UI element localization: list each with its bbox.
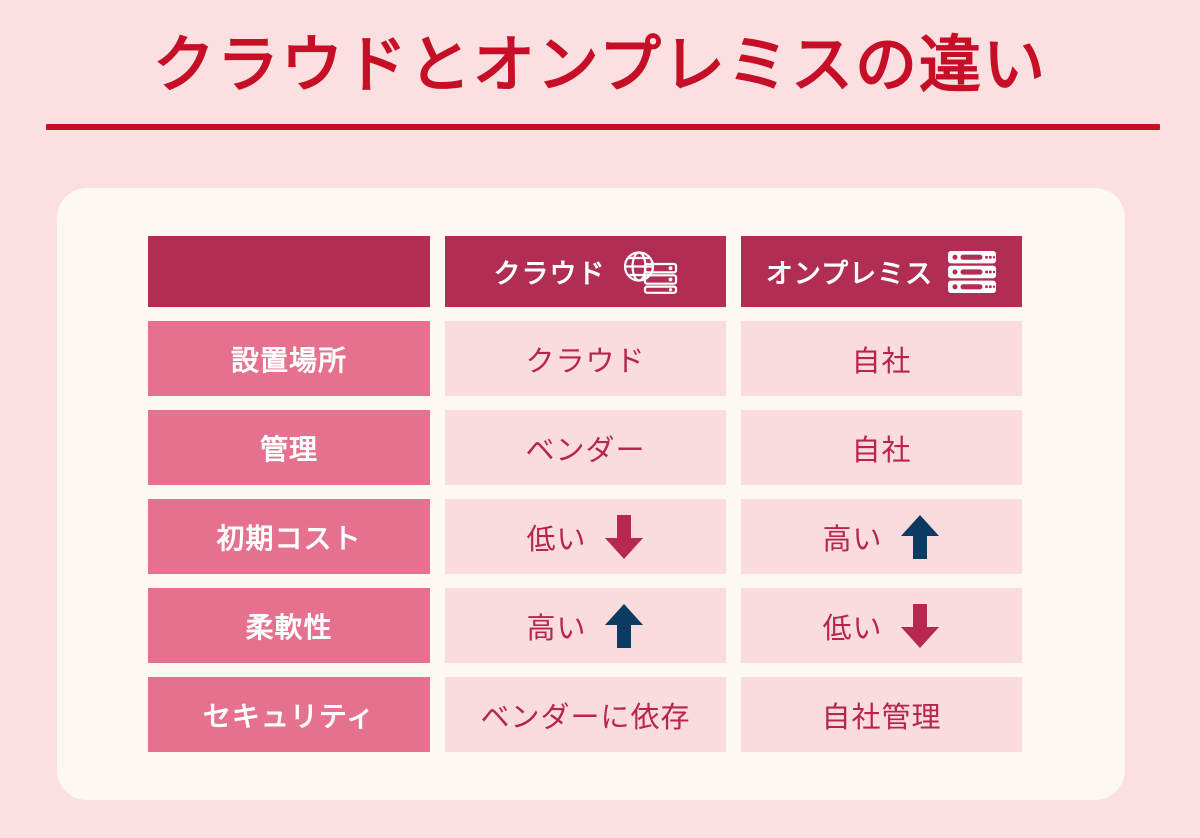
cell-cloud-security: ベンダーに依存 bbox=[445, 677, 726, 752]
table-row: セキュリティ ベンダーに依存 自社管理 bbox=[148, 677, 1022, 752]
cell-onpremise-security: 自社管理 bbox=[741, 677, 1022, 752]
cell-text: ベンダー bbox=[525, 427, 645, 469]
table-header-row: クラウド bbox=[148, 236, 1022, 307]
comparison-table: クラウド bbox=[148, 236, 1022, 752]
cell-text: ベンダーに依存 bbox=[480, 694, 690, 736]
cell-cloud-installation-location: クラウド bbox=[445, 321, 726, 396]
table-row: 設置場所 クラウド 自社 bbox=[148, 321, 1022, 396]
cell-text: 自社管理 bbox=[821, 694, 941, 736]
cell-text: クラウド bbox=[525, 338, 645, 380]
arrow-down-icon bbox=[603, 513, 645, 561]
column-header-cloud: クラウド bbox=[445, 236, 726, 307]
cell-text: 低い bbox=[822, 605, 882, 647]
arrow-up-icon bbox=[603, 602, 645, 650]
content-card: クラウド bbox=[57, 188, 1125, 800]
cell-text: 高い bbox=[526, 605, 586, 647]
cloud-server-icon bbox=[620, 250, 678, 294]
cell-cloud-initial-cost: 低い bbox=[445, 499, 726, 574]
row-label-installation-location: 設置場所 bbox=[148, 321, 430, 396]
row-label-initial-cost: 初期コスト bbox=[148, 499, 430, 574]
table-row: 管理 ベンダー 自社 bbox=[148, 410, 1022, 485]
cell-text: 自社 bbox=[851, 338, 911, 380]
cell-text: 低い bbox=[526, 516, 586, 558]
title-underline bbox=[46, 124, 1160, 130]
table-corner-cell bbox=[148, 236, 430, 307]
row-label-flexibility: 柔軟性 bbox=[148, 588, 430, 663]
row-label-management: 管理 bbox=[148, 410, 430, 485]
table-row: 初期コスト 低い 高い bbox=[148, 499, 1022, 574]
cell-cloud-flexibility: 高い bbox=[445, 588, 726, 663]
cell-text: 自社 bbox=[851, 427, 911, 469]
table-row: 柔軟性 高い 低い bbox=[148, 588, 1022, 663]
cell-onpremise-management: 自社 bbox=[741, 410, 1022, 485]
server-rack-icon bbox=[947, 250, 997, 294]
cell-cloud-management: ベンダー bbox=[445, 410, 726, 485]
title-block: クラウドとオンプレミスの違い bbox=[0, 0, 1200, 160]
arrow-up-icon bbox=[899, 513, 941, 561]
cell-onpremise-installation-location: 自社 bbox=[741, 321, 1022, 396]
cell-text: 高い bbox=[822, 516, 882, 558]
cell-onpremise-flexibility: 低い bbox=[741, 588, 1022, 663]
cell-onpremise-initial-cost: 高い bbox=[741, 499, 1022, 574]
column-header-cloud-label: クラウド bbox=[494, 252, 606, 291]
page-title: クラウドとオンプレミスの違い bbox=[0, 26, 1200, 106]
column-header-onpremise-label: オンプレミス bbox=[766, 252, 933, 291]
column-header-onpremise: オンプレミス bbox=[741, 236, 1022, 307]
arrow-down-icon bbox=[899, 602, 941, 650]
row-label-security: セキュリティ bbox=[148, 677, 430, 752]
